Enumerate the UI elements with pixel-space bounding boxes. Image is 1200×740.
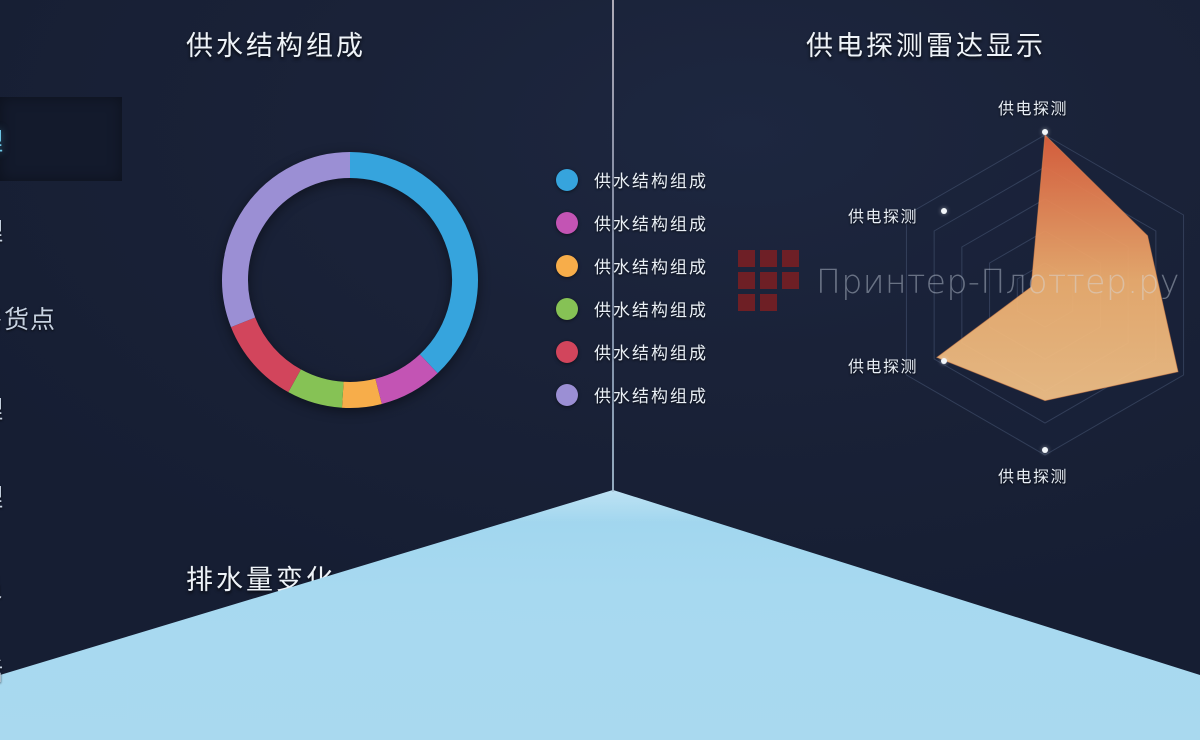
donut-segment-4[interactable] (243, 322, 295, 380)
radar-axis-label-bottom: 供电探测 (998, 463, 1068, 487)
radar-axis-marker-bottom (1042, 447, 1048, 453)
radar-axis-label-lower-left: 供电探测 (848, 353, 918, 377)
sidebar-item-label: 会员 (0, 574, 4, 602)
legend-label: 供水结构组成 (594, 296, 708, 321)
page-title-supply-structure: 供水结构组成 (186, 24, 366, 63)
sidebar-item-2[interactable]: 和售货点 (0, 300, 142, 336)
legend-item[interactable]: 供水结构组成 (556, 287, 708, 330)
legend-label: 供水结构组成 (594, 382, 708, 407)
donut-segment-1[interactable] (379, 364, 429, 392)
sidebar-item-label: 管理 (0, 396, 4, 424)
legend-color-swatch-4 (556, 341, 578, 363)
watermark: Принтер-Плоттер.ру (738, 250, 1180, 312)
watermark-logo-icon (738, 250, 800, 312)
donut-legend: 供水结构组成 供水结构组成 供水结构组成 供水结构组成 供水结构组成 供水结构组… (556, 158, 708, 416)
donut-segment-5[interactable] (235, 165, 350, 322)
sidebar-item-1[interactable]: 管理 (0, 212, 142, 248)
legend-color-swatch-5 (556, 384, 578, 406)
legend-color-swatch-2 (556, 255, 578, 277)
sidebar-item-label: 管理 (0, 128, 4, 156)
sidebar-item-0[interactable]: 管理 (0, 122, 142, 158)
radar-axis-label-top: 供电探测 (998, 95, 1068, 119)
donut-segment-3[interactable] (295, 381, 343, 395)
legend-item[interactable]: 供水结构组成 (556, 244, 708, 287)
sidebar-item-label: 概括 (0, 658, 4, 686)
donut-segment-0[interactable] (350, 165, 465, 364)
page-title-power-radar: 供电探测雷达显示 (806, 24, 1046, 63)
legend-color-swatch-3 (556, 298, 578, 320)
dashboard-screen: 管理 管理 和售货点 管理 管理 会员 概括 供水结构组成 供电探测雷达显示 排… (0, 0, 1200, 740)
sidebar-item-label: 管理 (0, 218, 4, 246)
donut-chart[interactable] (205, 135, 495, 425)
legend-item[interactable]: 供水结构组成 (556, 373, 708, 416)
sidebar-item-label: 和售货点 (0, 306, 56, 334)
legend-color-swatch-0 (556, 169, 578, 191)
donut-segment-2[interactable] (343, 391, 379, 395)
legend-label: 供水结构组成 (594, 167, 708, 192)
sidebar-item-label: 管理 (0, 484, 4, 512)
watermark-text: Принтер-Плоттер.ру (816, 262, 1180, 301)
donut-chart-svg (205, 135, 495, 425)
legend-item[interactable]: 供水结构组成 (556, 201, 708, 244)
legend-label: 供水结构组成 (594, 210, 708, 235)
legend-label: 供水结构组成 (594, 339, 708, 364)
sidebar: 管理 管理 和售货点 管理 管理 会员 概括 (0, 0, 126, 740)
radar-axis-marker-lower-left (941, 358, 947, 364)
sidebar-item-5[interactable]: 会员 (0, 568, 142, 604)
legend-item[interactable]: 供水结构组成 (556, 330, 708, 373)
legend-item[interactable]: 供水结构组成 (556, 158, 708, 201)
radar-axis-marker-upper-left (941, 208, 947, 214)
legend-color-swatch-1 (556, 212, 578, 234)
radar-axis-label-upper-left: 供电探测 (848, 203, 918, 227)
radar-axis-marker-top (1042, 129, 1048, 135)
legend-label: 供水结构组成 (594, 253, 708, 278)
sidebar-item-3[interactable]: 管理 (0, 390, 142, 426)
sidebar-item-4[interactable]: 管理 (0, 478, 142, 514)
sidebar-item-6[interactable]: 概括 (0, 652, 142, 688)
